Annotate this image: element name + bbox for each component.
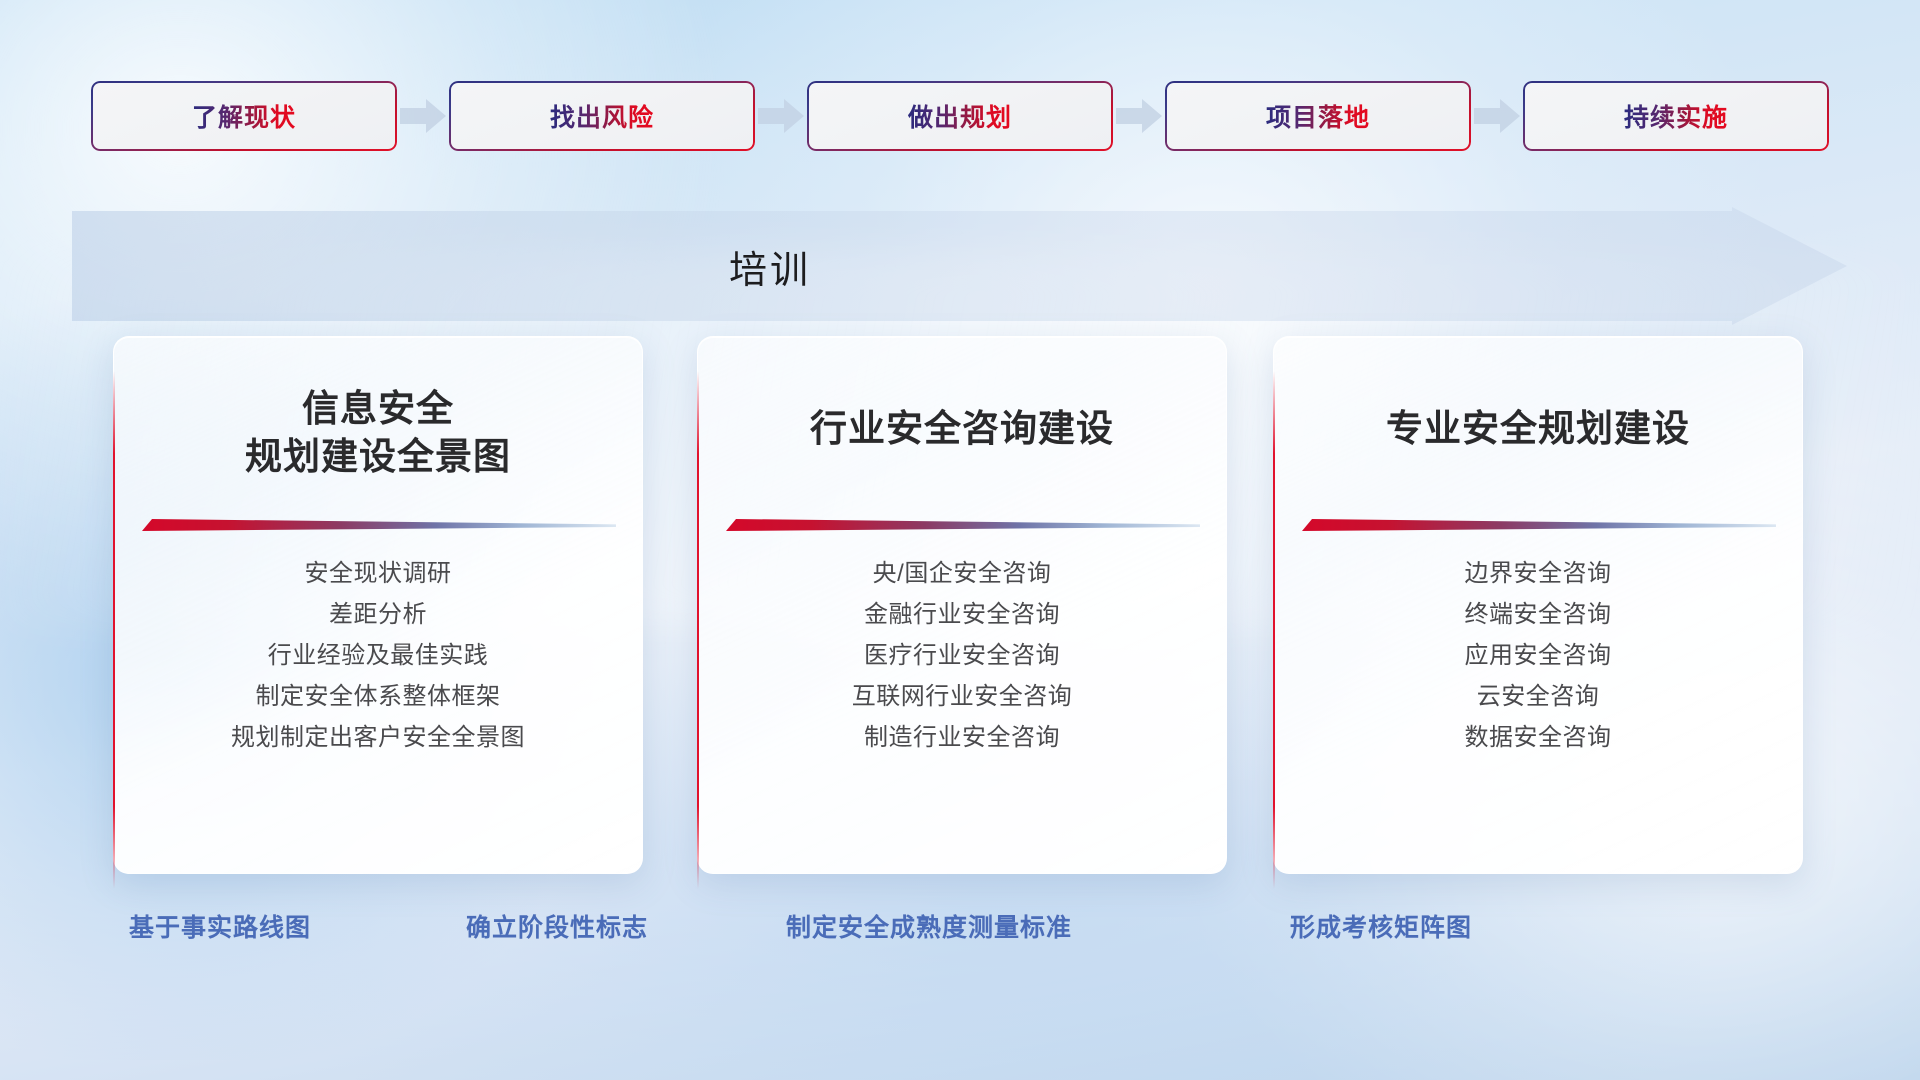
step-box-1[interactable]: 了解现状 [91, 81, 397, 151]
tapered-gradient-divider-icon [142, 519, 616, 533]
step-box-4[interactable]: 项目落地 [1165, 81, 1471, 151]
step-label-5: 持续实施 [1624, 98, 1728, 134]
step-label-3: 做出规划 [908, 98, 1012, 134]
chevron-right-arrow-icon [397, 81, 449, 151]
tapered-gradient-divider-icon [726, 519, 1200, 533]
card-item-list: 边界安全咨询 终端安全咨询 应用安全咨询 云安全咨询 数据安全咨询 [1274, 553, 1802, 758]
card-title: 行业安全咨询建设 [698, 405, 1226, 453]
step-box-3[interactable]: 做出规划 [807, 81, 1113, 151]
list-item: 应用安全咨询 [1274, 635, 1802, 676]
caption-4: 形成考核矩阵图 [1290, 908, 1472, 944]
list-item: 医疗行业安全咨询 [698, 635, 1226, 676]
caption-row: 基于事实路线图 确立阶段性标志 制定安全成熟度测量标准 形成考核矩阵图 [0, 908, 1920, 956]
chevron-right-arrow-icon [755, 81, 807, 151]
list-item: 云安全咨询 [1274, 676, 1802, 717]
caption-1: 基于事实路线图 [129, 908, 311, 944]
card-industry-security-consulting[interactable]: 行业安全咨询建设 [697, 336, 1227, 874]
list-item: 金融行业安全咨询 [698, 594, 1226, 635]
caption-3: 制定安全成熟度测量标准 [786, 908, 1072, 944]
card-info-security-blueprint[interactable]: 信息安全 规划建设全景图 [113, 336, 643, 874]
list-item: 边界安全咨询 [1274, 553, 1802, 594]
chevron-right-arrow-icon [1471, 81, 1523, 151]
step-box-2[interactable]: 找出风险 [449, 81, 755, 151]
card-item-list: 安全现状调研 差距分析 行业经验及最佳实践 制定安全体系整体框架 规划制定出客户… [114, 553, 642, 758]
step-label-1: 了解现状 [192, 98, 296, 134]
card-title-line: 行业安全咨询建设 [724, 405, 1200, 453]
process-step-row: 了解现状 找出风险 做出规划 项目落地 [0, 80, 1920, 152]
list-item: 央/国企安全咨询 [698, 553, 1226, 594]
list-item: 数据安全咨询 [1274, 717, 1802, 758]
list-item: 规划制定出客户安全全景图 [114, 717, 642, 758]
list-item: 差距分析 [114, 594, 642, 635]
card-title-line: 专业安全规划建设 [1300, 405, 1776, 453]
card-title: 信息安全 规划建设全景图 [114, 385, 642, 481]
list-item: 互联网行业安全咨询 [698, 676, 1226, 717]
card-row: 信息安全 规划建设全景图 [0, 336, 1920, 876]
tapered-gradient-divider-icon [1302, 519, 1776, 533]
list-item: 制定安全体系整体框架 [114, 676, 642, 717]
card-title-line: 规划建设全景图 [140, 433, 616, 481]
step-box-5[interactable]: 持续实施 [1523, 81, 1829, 151]
chevron-right-arrow-icon [1113, 81, 1165, 151]
step-label-4: 项目落地 [1266, 98, 1370, 134]
list-item: 安全现状调研 [114, 553, 642, 594]
step-label-2: 找出风险 [550, 98, 654, 134]
list-item: 行业经验及最佳实践 [114, 635, 642, 676]
slide-canvas: 了解现状 找出风险 做出规划 项目落地 [0, 0, 1920, 1080]
list-item: 制造行业安全咨询 [698, 717, 1226, 758]
caption-2: 确立阶段性标志 [466, 908, 648, 944]
band-label: 培训 [0, 207, 1540, 325]
card-title: 专业安全规划建设 [1274, 405, 1802, 453]
card-professional-security-planning[interactable]: 专业安全规划建设 [1273, 336, 1803, 874]
card-item-list: 央/国企安全咨询 金融行业安全咨询 医疗行业安全咨询 互联网行业安全咨询 制造行… [698, 553, 1226, 758]
card-title-line: 信息安全 [140, 385, 616, 433]
list-item: 终端安全咨询 [1274, 594, 1802, 635]
